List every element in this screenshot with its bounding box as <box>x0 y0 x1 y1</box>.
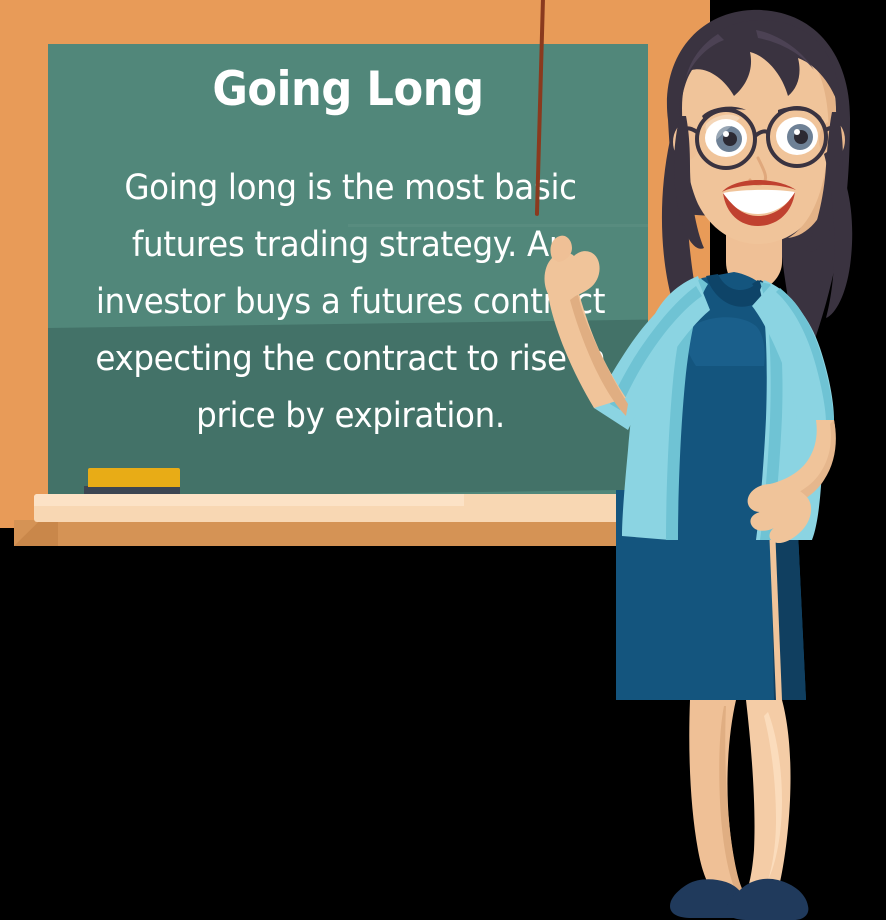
teacher-figure <box>520 0 886 920</box>
eye-right-glint <box>794 129 800 135</box>
legs-group <box>689 700 790 898</box>
illustration-scene: Going Long Going long is the most basic … <box>0 0 886 920</box>
chalk-tray-highlight <box>34 494 464 506</box>
eye-right-group <box>776 117 818 155</box>
body-group <box>545 236 836 700</box>
dress-waist-highlight <box>686 317 765 366</box>
eraser-icon <box>88 468 180 487</box>
